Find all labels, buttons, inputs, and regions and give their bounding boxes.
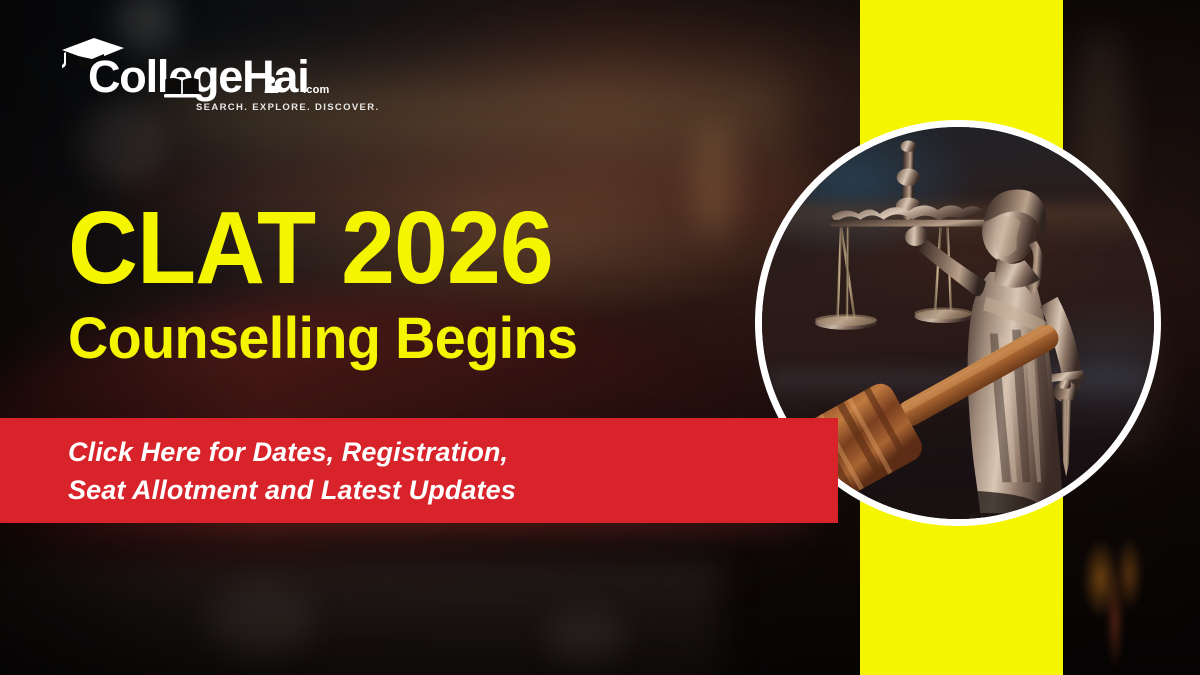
promo-banner: CLAT 2026 Counselling Begins Click Here … xyxy=(0,0,1200,675)
cta-banner[interactable]: Click Here for Dates, Registration, Seat… xyxy=(0,418,838,523)
page-title: CLAT 2026 xyxy=(68,196,726,300)
logo-wordmark-group: CollegeHai .com SEARCH. EXPLORE. DISCOVE… xyxy=(58,36,318,110)
page-subtitle: Counselling Begins xyxy=(68,306,740,372)
user-avatar-icon xyxy=(263,74,280,93)
logo-domain-suffix: .com xyxy=(303,84,329,96)
open-book-icon xyxy=(164,76,200,98)
cta-line-1: Click Here for Dates, Registration, xyxy=(68,433,838,471)
headline-block: CLAT 2026 Counselling Begins xyxy=(68,196,768,372)
cta-line-2: Seat Allotment and Latest Updates xyxy=(68,471,838,509)
brand-logo[interactable]: CollegeHai .com SEARCH. EXPLORE. DISCOVE… xyxy=(58,36,318,110)
logo-tagline: SEARCH. EXPLORE. DISCOVER. xyxy=(196,102,379,113)
